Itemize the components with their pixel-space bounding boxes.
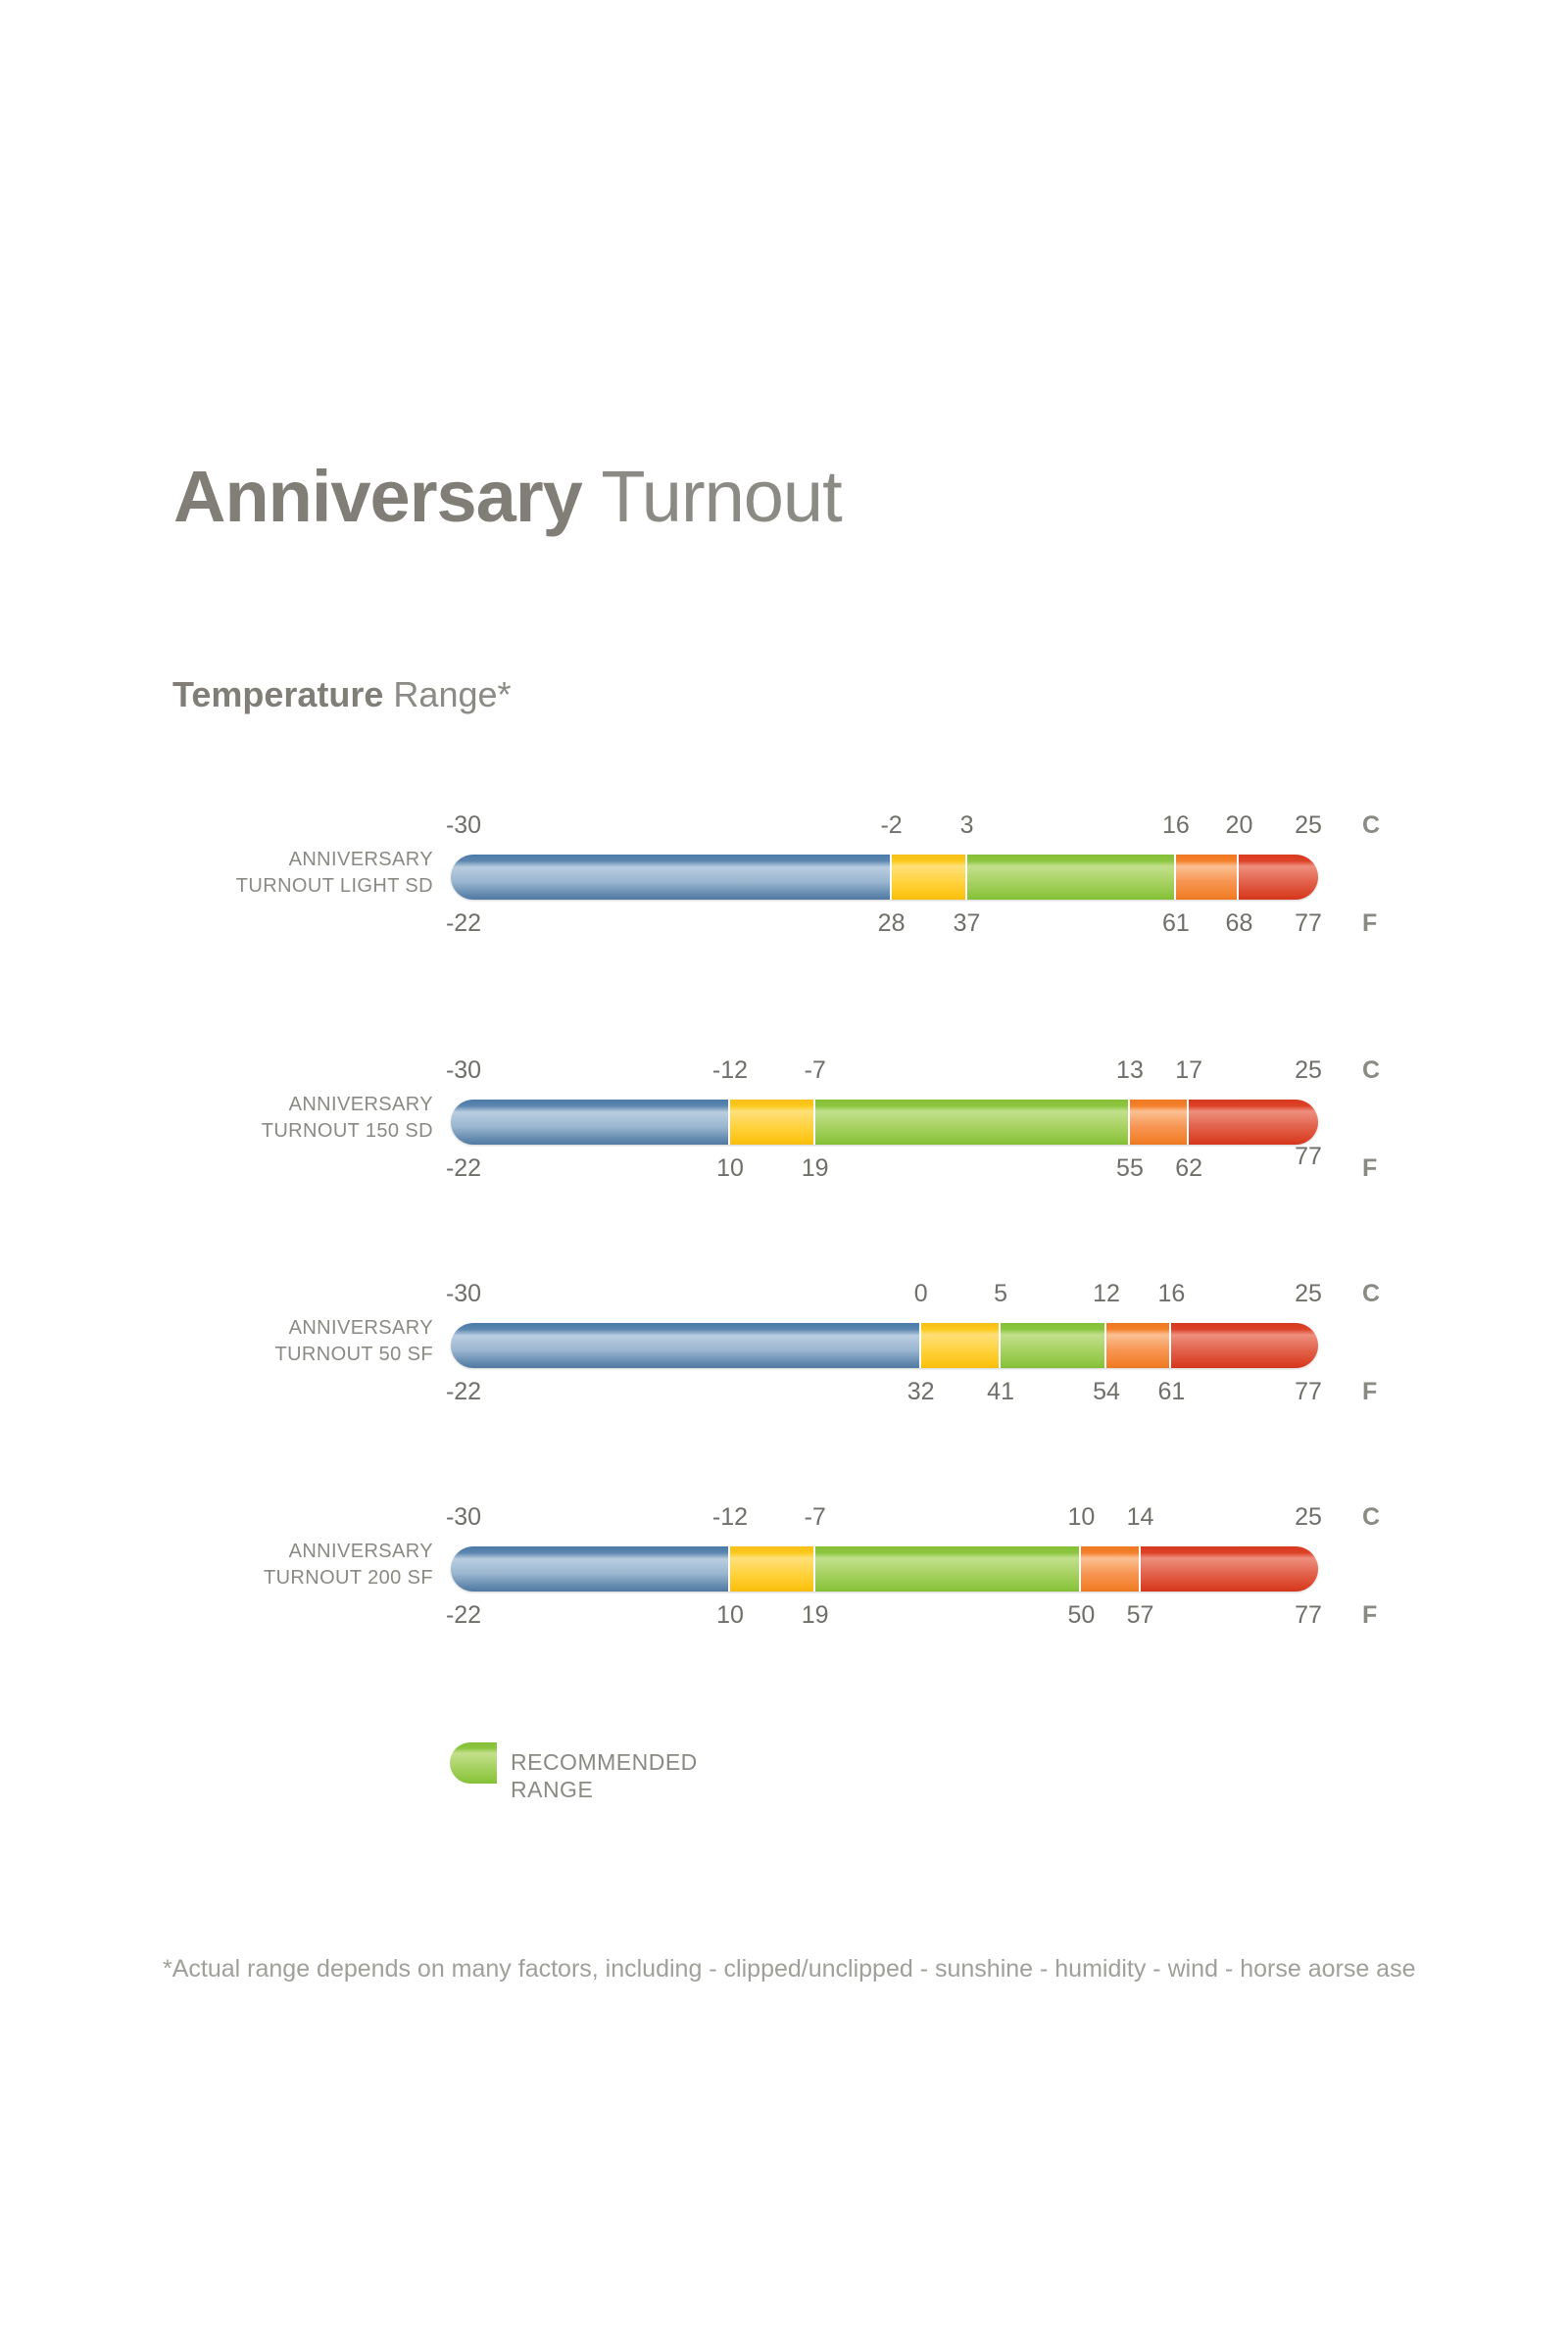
tick-celsius: -30: [446, 1280, 481, 1307]
tick-fahrenheit: 57: [1127, 1601, 1154, 1629]
tick-fahrenheit: -22: [446, 1601, 481, 1629]
footnote-text: *Actual range depends on many factors, i…: [163, 1953, 1415, 1984]
tick-celsius: 5: [994, 1280, 1007, 1307]
chart-row-label: ANNIVERSARYTURNOUT 150 SD: [176, 1092, 433, 1145]
tick-celsius: -12: [712, 1056, 748, 1084]
tick-fahrenheit: 41: [987, 1378, 1014, 1405]
tick-fahrenheit: -22: [446, 1378, 481, 1405]
unit-celsius-label: C: [1362, 1280, 1380, 1307]
tick-fahrenheit: 77: [1295, 1143, 1322, 1170]
temperature-segment-too-cold: [451, 1323, 921, 1368]
tick-fahrenheit: 10: [716, 1601, 744, 1629]
tick-fahrenheit: 62: [1175, 1154, 1202, 1182]
chart-row-label-line2: TURNOUT LIGHT SD: [176, 873, 433, 900]
tick-celsius: 17: [1175, 1056, 1202, 1084]
temperature-segment-too-cold: [451, 855, 892, 900]
tick-celsius: 25: [1295, 1503, 1322, 1531]
tick-celsius: 13: [1116, 1056, 1144, 1084]
unit-celsius-label: C: [1362, 811, 1380, 839]
temperature-segment-recommended-range: [1001, 1323, 1106, 1368]
chart-row-label-line2: TURNOUT 200 SF: [176, 1565, 433, 1592]
temperature-bar: -30-22-1210-719105014572577CF: [451, 1546, 1318, 1592]
tick-celsius: 3: [960, 811, 974, 839]
tick-fahrenheit: 68: [1226, 909, 1253, 937]
temperature-bar-track: [451, 1546, 1318, 1592]
temperature-bar: -30-22-228337166120682577CF: [451, 855, 1318, 900]
tick-celsius: -12: [712, 1503, 748, 1531]
tick-fahrenheit: 37: [954, 909, 981, 937]
temperature-segment-too-warm: [1141, 1546, 1318, 1592]
chart-row-label: ANNIVERSARYTURNOUT 50 SF: [176, 1315, 433, 1368]
tick-celsius: 16: [1162, 811, 1190, 839]
tick-fahrenheit: 55: [1116, 1154, 1144, 1182]
tick-fahrenheit: 19: [802, 1154, 829, 1182]
tick-celsius: -30: [446, 811, 481, 839]
tick-celsius: -7: [805, 1503, 826, 1531]
tick-celsius: 25: [1295, 1056, 1322, 1084]
tick-fahrenheit: 61: [1162, 909, 1190, 937]
tick-fahrenheit: 61: [1158, 1378, 1186, 1405]
tick-celsius: 10: [1067, 1503, 1095, 1531]
chart-row-label: ANNIVERSARYTURNOUT LIGHT SD: [176, 847, 433, 900]
legend-label-recommended: RECOMMENDED RANGE: [511, 1748, 698, 1803]
temperature-bar: -30-22032541125416612577CF: [451, 1323, 1318, 1368]
unit-fahrenheit-label: F: [1362, 1378, 1377, 1405]
tick-fahrenheit: 54: [1093, 1378, 1120, 1405]
tick-celsius: -2: [880, 811, 902, 839]
temperature-segment-warm: [1081, 1546, 1140, 1592]
unit-fahrenheit-label: F: [1362, 1154, 1377, 1182]
tick-celsius: 0: [914, 1280, 928, 1307]
tick-fahrenheit: 77: [1295, 909, 1322, 937]
temperature-bar-track: [451, 1323, 1318, 1368]
tick-celsius: -30: [446, 1056, 481, 1084]
tick-celsius: 25: [1295, 811, 1322, 839]
unit-fahrenheit-label: F: [1362, 1601, 1377, 1629]
tick-celsius: 14: [1127, 1503, 1154, 1531]
tick-fahrenheit: -22: [446, 909, 481, 937]
chart-row-label-line1: ANNIVERSARY: [176, 1539, 433, 1565]
tick-celsius: 12: [1093, 1280, 1120, 1307]
temperature-segment-warm: [1106, 1323, 1171, 1368]
tick-celsius: -7: [805, 1056, 826, 1084]
temperature-segment-recommended-range: [815, 1546, 1082, 1592]
tick-celsius: -30: [446, 1503, 481, 1531]
chart-row-label-line1: ANNIVERSARY: [176, 1092, 433, 1118]
unit-celsius-label: C: [1362, 1056, 1380, 1084]
tick-fahrenheit: 77: [1295, 1601, 1322, 1629]
poster-page: Anniversary Turnout Temperature Range* A…: [0, 0, 1568, 2351]
legend-swatch-recommended: [450, 1742, 497, 1784]
temperature-segment-too-warm: [1239, 855, 1318, 900]
tick-fahrenheit: 19: [802, 1601, 829, 1629]
temperature-segment-cool: [921, 1323, 1001, 1368]
tick-fahrenheit: 28: [878, 909, 906, 937]
temperature-segment-cool: [892, 855, 967, 900]
chart-row: ANNIVERSARYTURNOUT LIGHT SD-30-22-228337…: [0, 796, 1568, 982]
tick-celsius: 20: [1226, 811, 1253, 839]
temperature-range-chart: ANNIVERSARYTURNOUT LIGHT SD-30-22-228337…: [0, 0, 1568, 2351]
chart-row-label-line1: ANNIVERSARY: [176, 847, 433, 873]
temperature-segment-recommended-range: [815, 1100, 1130, 1145]
tick-fahrenheit: 50: [1067, 1601, 1095, 1629]
temperature-segment-too-cold: [451, 1100, 730, 1145]
tick-fahrenheit: 32: [907, 1378, 935, 1405]
unit-celsius-label: C: [1362, 1503, 1380, 1531]
temperature-segment-recommended-range: [967, 855, 1176, 900]
chart-row: ANNIVERSARYTURNOUT 50 SF-30-220325411254…: [0, 1264, 1568, 1450]
chart-row-label: ANNIVERSARYTURNOUT 200 SF: [176, 1539, 433, 1592]
temperature-segment-too-cold: [451, 1546, 730, 1592]
temperature-bar-track: [451, 855, 1318, 900]
chart-row: ANNIVERSARYTURNOUT 150 SD-30-22-1210-719…: [0, 1041, 1568, 1227]
chart-row-label-line2: TURNOUT 50 SF: [176, 1342, 433, 1368]
tick-celsius: 25: [1295, 1280, 1322, 1307]
temperature-bar: -30-22-1210-719135517622577CF: [451, 1100, 1318, 1145]
chart-row-label-line1: ANNIVERSARY: [176, 1315, 433, 1342]
unit-fahrenheit-label: F: [1362, 909, 1377, 937]
chart-row: ANNIVERSARYTURNOUT 200 SF-30-22-1210-719…: [0, 1488, 1568, 1674]
temperature-segment-too-warm: [1189, 1100, 1318, 1145]
tick-celsius: 16: [1158, 1280, 1186, 1307]
temperature-segment-warm: [1130, 1100, 1189, 1145]
chart-row-label-line2: TURNOUT 150 SD: [176, 1118, 433, 1145]
temperature-segment-warm: [1176, 855, 1240, 900]
temperature-segment-cool: [730, 1100, 815, 1145]
tick-fahrenheit: -22: [446, 1154, 481, 1182]
temperature-segment-cool: [730, 1546, 815, 1592]
temperature-bar-track: [451, 1100, 1318, 1145]
tick-fahrenheit: 77: [1295, 1378, 1322, 1405]
tick-fahrenheit: 10: [716, 1154, 744, 1182]
temperature-segment-too-warm: [1171, 1323, 1318, 1368]
